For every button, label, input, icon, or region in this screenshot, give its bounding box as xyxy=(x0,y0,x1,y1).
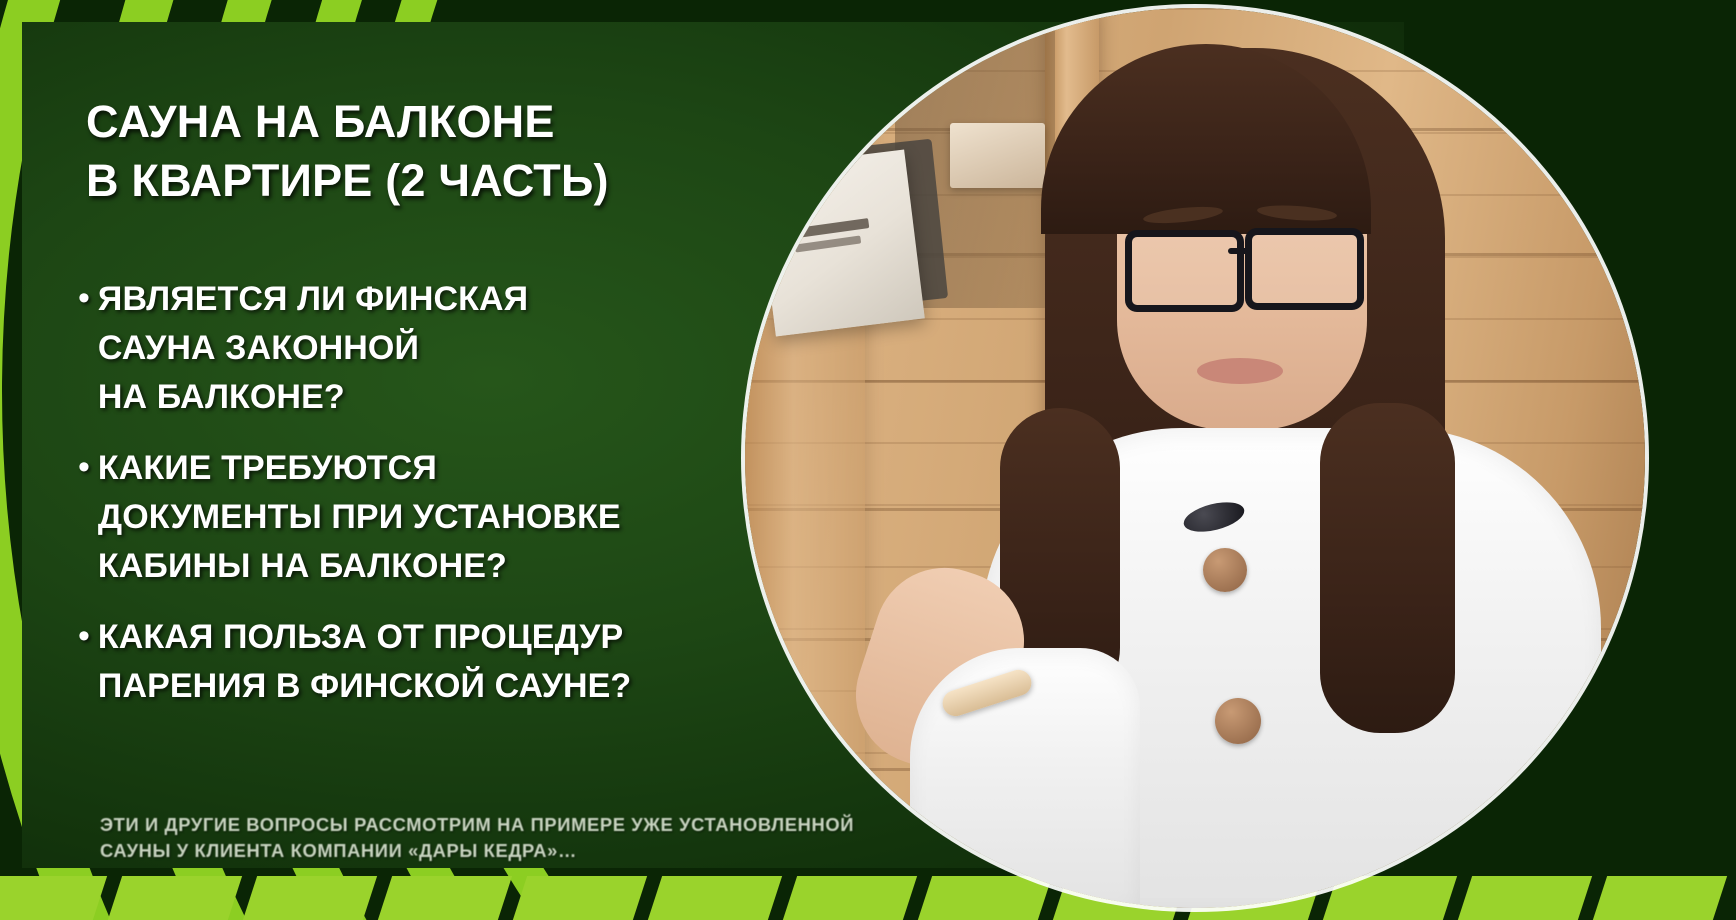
bullet-2-line-2: ДОКУМЕНТЫ ПРИ УСТАНОВКЕ xyxy=(98,493,621,542)
bullet-1-line-3: НА БАЛКОНЕ? xyxy=(98,373,528,422)
bullet-1-line-1: ЯВЛЯЕТСЯ ЛИ ФИНСКАЯ xyxy=(98,275,528,324)
title-line-2: В КВАРТИРЕ (2 ЧАСТЬ) xyxy=(86,151,746,210)
title-line-1: САУНА НА БАЛКОНЕ xyxy=(86,92,746,151)
bullet-dot-icon: • xyxy=(78,444,90,490)
glasses-right-lens xyxy=(1245,228,1364,310)
glasses-left-lens xyxy=(1125,230,1244,312)
bullet-1-line-2: САУНА ЗАКОННОЙ xyxy=(98,324,528,373)
poster-canvas: САУНА НА БАЛКОНЕ В КВАРТИРЕ (2 ЧАСТЬ) • … xyxy=(0,0,1736,920)
photo-circle xyxy=(745,8,1645,908)
page-title: САУНА НА БАЛКОНЕ В КВАРТИРЕ (2 ЧАСТЬ) xyxy=(86,92,746,210)
bullet-text: КАКИЕ ТРЕБУЮТСЯ ДОКУМЕНТЫ ПРИ УСТАНОВКЕ … xyxy=(98,444,621,591)
list-item: • КАКИЕ ТРЕБУЮТСЯ ДОКУМЕНТЫ ПРИ УСТАНОВК… xyxy=(78,444,798,591)
bullet-3-line-2: ПАРЕНИЯ В ФИНСКОЙ САУНЕ? xyxy=(98,662,631,711)
bullet-text: КАКАЯ ПОЛЬЗА ОТ ПРОЦЕДУР ПАРЕНИЯ В ФИНСК… xyxy=(98,613,631,711)
bullet-2-line-3: КАБИНЫ НА БАЛКОНЕ? xyxy=(98,542,621,591)
bullet-list: • ЯВЛЯЕТСЯ ЛИ ФИНСКАЯ САУНА ЗАКОННОЙ НА … xyxy=(78,275,798,733)
sauna-photo xyxy=(745,8,1645,908)
bullet-dot-icon: • xyxy=(78,613,90,659)
blouse-button-1 xyxy=(1203,548,1247,592)
hair-right-strand xyxy=(1320,403,1455,733)
list-item: • ЯВЛЯЕТСЯ ЛИ ФИНСКАЯ САУНА ЗАКОННОЙ НА … xyxy=(78,275,798,422)
wall-post-left xyxy=(745,8,865,908)
blouse-button-2 xyxy=(1215,698,1261,744)
bullet-text: ЯВЛЯЕТСЯ ЛИ ФИНСКАЯ САУНА ЗАКОННОЙ НА БА… xyxy=(98,275,528,422)
bullet-3-line-1: КАКАЯ ПОЛЬЗА ОТ ПРОЦЕДУР xyxy=(98,613,631,662)
list-item: • КАКАЯ ПОЛЬЗА ОТ ПРОЦЕДУР ПАРЕНИЯ В ФИН… xyxy=(78,613,798,711)
wall-box xyxy=(950,123,1045,188)
bullet-dot-icon: • xyxy=(78,275,90,321)
glasses-bridge xyxy=(1228,248,1248,254)
bullet-2-line-1: КАКИЕ ТРЕБУЮТСЯ xyxy=(98,444,621,493)
lips xyxy=(1197,358,1283,384)
